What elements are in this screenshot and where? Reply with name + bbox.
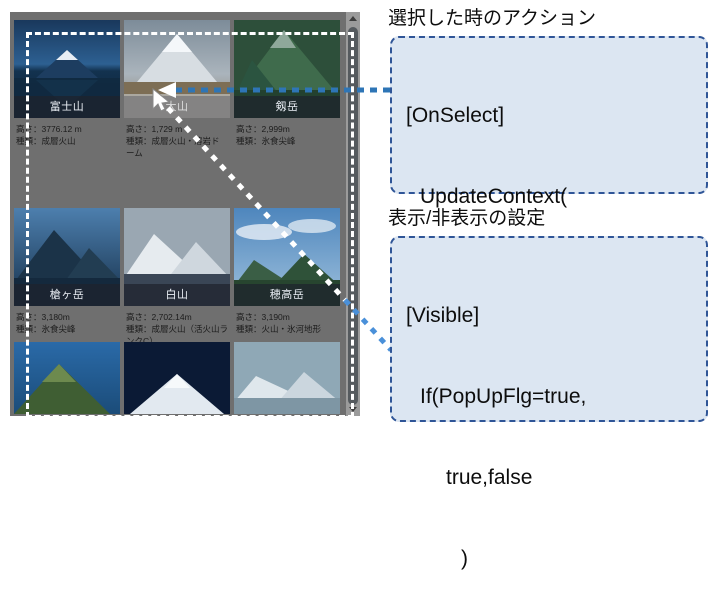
visible-property-label: [Visible] — [406, 302, 698, 329]
card-title: 白山 — [124, 284, 230, 306]
scroll-down-button[interactable] — [346, 402, 360, 416]
card-meta: 高さ：3,180m 種類：氷食尖峰 — [14, 306, 120, 337]
card-thumbnail: 富士山 — [14, 20, 120, 118]
triangle-down-icon — [349, 407, 357, 412]
card-meta: 高さ：1,729 m 種類：成層火山・溶岩ドーム — [124, 118, 230, 161]
gallery-card-partial[interactable] — [14, 342, 120, 414]
card-thumbnail — [14, 342, 120, 414]
card-height: 高さ：1,729 m — [126, 123, 228, 135]
mouse-cursor-icon — [152, 88, 172, 114]
card-thumbnail: 剱岳 — [234, 20, 340, 118]
onselect-property-label: [OnSelect] — [406, 102, 698, 129]
card-thumbnail — [234, 342, 340, 414]
gallery-card-partial[interactable] — [124, 342, 230, 414]
card-thumbnail — [124, 342, 230, 414]
gallery-card-selected[interactable]: 大山 高さ：1,729 m 種類：成層火山・溶岩ドーム — [124, 20, 230, 161]
card-thumbnail: 槍ヶ岳 — [14, 208, 120, 306]
card-height: 高さ：3776.12 m — [16, 123, 118, 135]
card-thumbnail: 穂高岳 — [234, 208, 340, 306]
card-type: 種類：氷食尖峰 — [236, 135, 338, 147]
scrollbar-thumb[interactable] — [348, 27, 358, 405]
visible-formula-line-3: ) — [406, 545, 698, 572]
card-title: 剱岳 — [234, 96, 340, 118]
card-height: 高さ：2,999m — [236, 123, 338, 135]
gallery-scrollbar[interactable] — [346, 12, 360, 416]
annotation-box-visible: [Visible] If(PopUpFlg=true, true,false ) — [390, 236, 708, 422]
card-type: 種類：成層火山・溶岩ドーム — [126, 135, 228, 159]
card-meta: 高さ：3,190m 種類：火山・氷河地形 — [234, 306, 340, 337]
annotation-heading-visible: 表示/非表示の設定 — [388, 203, 545, 230]
card-title: 富士山 — [14, 96, 120, 118]
gallery-card-partial[interactable] — [234, 342, 340, 414]
gallery-card[interactable]: 剱岳 高さ：2,999m 種類：氷食尖峰 — [234, 20, 340, 149]
gallery-card[interactable]: 白山 高さ：2,702.14m 種類：成層火山（活火山ランクC） — [124, 208, 230, 349]
annotation-heading-onselect: 選択した時のアクション — [388, 3, 596, 30]
visible-formula-line-2: true,false — [406, 464, 698, 491]
mountain-image — [234, 342, 340, 414]
visible-formula-line-1: If(PopUpFlg=true, — [406, 383, 698, 410]
card-type: 種類：成層火山 — [16, 135, 118, 147]
card-type: 種類：氷食尖峰 — [16, 323, 118, 335]
mountain-image — [124, 342, 230, 414]
card-title: 穂高岳 — [234, 284, 340, 306]
card-thumbnail: 白山 — [124, 208, 230, 306]
power-apps-preview-window: 富士山 高さ：3776.12 m 種類：成層火山 — [10, 12, 360, 416]
scroll-up-button[interactable] — [346, 12, 360, 26]
gallery-card[interactable]: 槍ヶ岳 高さ：3,180m 種類：氷食尖峰 — [14, 208, 120, 337]
card-height: 高さ：3,190m — [236, 311, 338, 323]
gallery-card[interactable]: 富士山 高さ：3776.12 m 種類：成層火山 — [14, 20, 120, 149]
card-thumbnail: 大山 — [124, 20, 230, 118]
card-height: 高さ：2,702.14m — [126, 311, 228, 323]
card-meta: 高さ：3776.12 m 種類：成層火山 — [14, 118, 120, 149]
card-type: 種類：火山・氷河地形 — [236, 323, 338, 335]
card-meta: 高さ：2,999m 種類：氷食尖峰 — [234, 118, 340, 149]
gallery-card[interactable]: 穂高岳 高さ：3,190m 種類：火山・氷河地形 — [234, 208, 340, 337]
mountain-gallery[interactable]: 富士山 高さ：3776.12 m 種類：成層火山 — [10, 12, 348, 416]
triangle-up-icon — [349, 16, 357, 21]
card-title: 槍ヶ岳 — [14, 284, 120, 306]
card-title: 大山 — [124, 96, 230, 118]
mountain-image — [14, 342, 120, 414]
annotation-box-onselect: [OnSelect] UpdateContext( {PopUpFlg:fals… — [390, 36, 708, 194]
card-height: 高さ：3,180m — [16, 311, 118, 323]
